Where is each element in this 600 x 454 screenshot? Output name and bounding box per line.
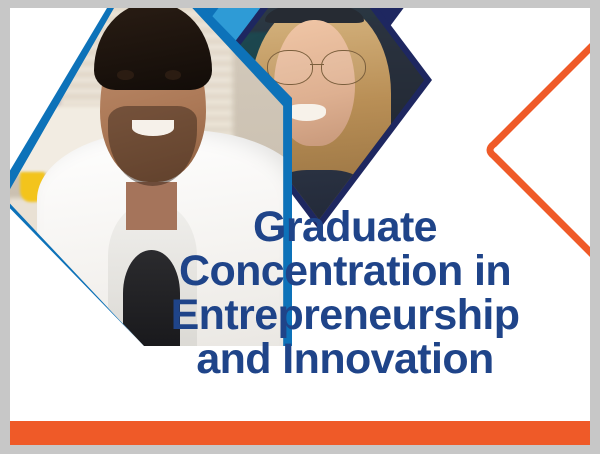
title-line-3: Entrepreneurship [171, 291, 520, 339]
photo-one-right-eye [165, 70, 181, 80]
eyeglasses-right-lens [321, 50, 367, 85]
title-line-2: Concentration in [179, 247, 511, 295]
title-line-1: Graduate [253, 203, 437, 251]
photo-one-purple-box [10, 34, 58, 106]
eyeglasses-bridge [310, 64, 324, 66]
title-line-4: and Innovation [196, 335, 493, 383]
page-title: Graduate Concentration in Entrepreneursh… [130, 206, 560, 381]
promo-card: Graduate Concentration in Entrepreneursh… [10, 8, 590, 445]
eyeglasses-icon [267, 50, 366, 83]
page-title-heading: Graduate Concentration in Entrepreneursh… [130, 206, 560, 381]
photo-one-smile [132, 120, 173, 136]
photo-one-left-eye [117, 70, 133, 80]
photo-two-smile [287, 104, 325, 121]
orange-accent-bar [10, 421, 590, 445]
